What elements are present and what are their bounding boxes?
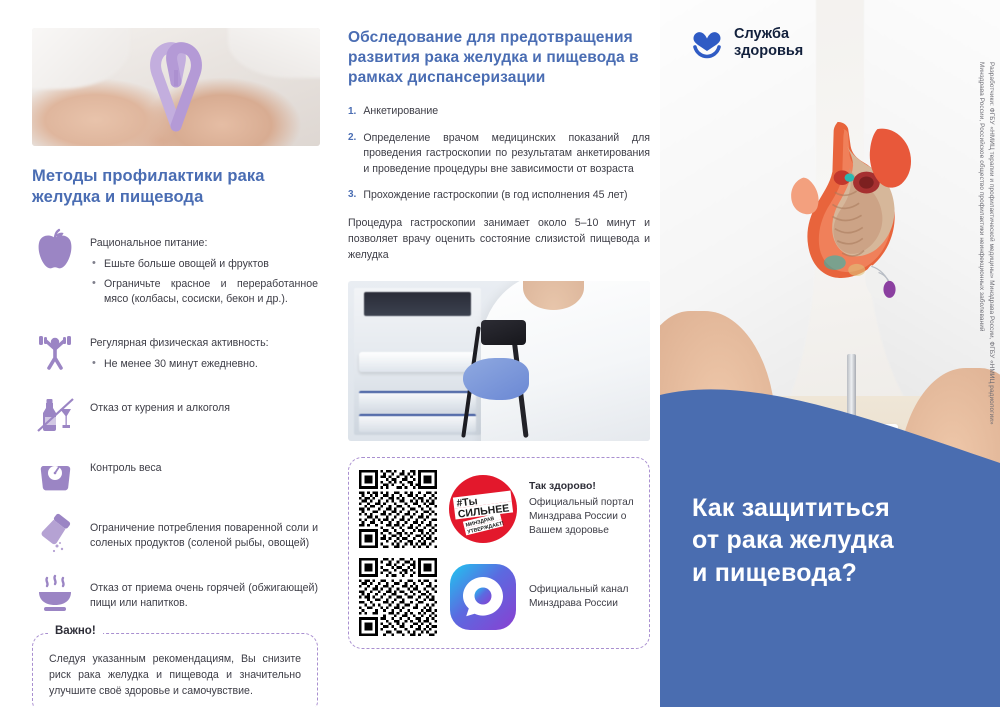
cover-title-line-1: Как защититься: [692, 492, 894, 525]
awareness-ribbon-icon: [144, 40, 208, 132]
endoscopy-machine: [354, 288, 481, 435]
brochure-page: Методы профилактики рака желудка и пищев…: [0, 0, 1000, 707]
cover-title: Как защититься от рака желудка и пищевод…: [692, 492, 894, 590]
step-number: 1.: [348, 104, 356, 119]
prevention-tips-list: Рациональное питание: Ешьте больше овоще…: [32, 226, 318, 617]
exercise-person-icon: [32, 326, 78, 372]
stomach-anatomical-model: [762, 57, 932, 425]
no-alcohol-smoking-icon: [32, 391, 78, 437]
screening-step: 1. Анкетирование: [348, 104, 650, 119]
hot-bowl-icon: [32, 571, 78, 617]
tip-body: Регулярная физическая активность: Не мен…: [90, 326, 318, 377]
tip-item: Регулярная физическая активность: Не мен…: [32, 326, 318, 377]
left-heading: Методы профилактики рака желудка и пищев…: [32, 166, 318, 208]
photo-gastroscope: [348, 281, 650, 441]
tip-bullets: Не менее 30 минут ежедневно.: [90, 357, 318, 372]
tip-bullets: Ешьте больше овощей и фруктов Ограничьте…: [90, 257, 318, 307]
screening-steps-list: 1. Анкетирование 2. Определение врачом м…: [348, 104, 650, 203]
qr-item: Официальный канал Минздрава России: [359, 558, 639, 636]
machine-screen: [364, 292, 471, 316]
tip-bullet: Ешьте больше овощей и фруктов: [90, 257, 318, 272]
gastroscopy-description: Процедура гастроскопии занимает около 5–…: [348, 216, 650, 263]
tip-body: Ограничение потребления поваренной соли …: [90, 511, 318, 551]
ty-silnee-badge: #Ты СИЛЬНЕЕ МИНЗДРАВ УТВЕРЖДАЕТ!: [447, 473, 519, 545]
qr-description: Официальный канал Минздрава России: [529, 583, 639, 611]
screening-step: 2. Определение врачом медицинских показа…: [348, 131, 650, 177]
tip-item: Контроль веса: [32, 451, 318, 497]
logo-line-2: здоровья: [734, 43, 803, 60]
logo-line-1: Служба: [734, 26, 803, 43]
column-screening: Обследование для предотвращения развития…: [340, 0, 660, 707]
tip-item: Рациональное питание: Ешьте больше овоще…: [32, 226, 318, 312]
logo-text: Служба здоровья: [734, 26, 803, 59]
scope-control-head: [481, 320, 526, 346]
tip-body: Отказ от курения и алкоголя: [90, 391, 318, 416]
middle-heading: Обследование для предотвращения развития…: [348, 28, 650, 88]
tip-body: Отказ от приема очень горячей (обжигающе…: [90, 571, 318, 611]
qr-code-takzdorovo[interactable]: [359, 470, 437, 548]
screening-step: 3. Прохождение гастроскопии (в год испол…: [348, 188, 650, 203]
important-callout: Следуя указанным рекомендациям, Вы снизи…: [32, 633, 318, 707]
important-box: Следуя указанным рекомендациям, Вы снизи…: [32, 633, 318, 707]
step-text: Анкетирование: [363, 104, 438, 119]
qr-caption: Официальный канал Минздрава России: [529, 583, 639, 611]
tip-item: Ограничение потребления поваренной соли …: [32, 511, 318, 557]
step-text: Прохождение гастроскопии (в год исполнен…: [363, 188, 627, 203]
step-number: 3.: [348, 188, 356, 203]
apple-icon: [32, 226, 78, 272]
max-messenger-logo: [447, 561, 519, 633]
important-text: Следуя указанным рекомендациям, Вы снизи…: [49, 652, 301, 700]
heart-smile-icon: [690, 27, 724, 59]
machine-tray: [359, 352, 476, 371]
machine-panel-lower: [359, 414, 476, 432]
tip-title: Рациональное питание:: [90, 236, 318, 251]
weight-scale-icon: [32, 451, 78, 497]
qr-code-minzdrav-channel[interactable]: [359, 558, 437, 636]
qr-title: Так здорово!: [529, 481, 639, 492]
qr-caption: Так здорово! Официальный портал Минздрав…: [529, 481, 639, 538]
qr-codes-box: #Ты СИЛЬНЕЕ МИНЗДРАВ УТВЕРЖДАЕТ! Так здо…: [348, 457, 650, 649]
column-prevention-methods: Методы профилактики рака желудка и пищев…: [0, 0, 340, 707]
photo-lavender-ribbon: [32, 28, 320, 146]
sluzhba-zdorovya-logo: Служба здоровья: [690, 26, 803, 59]
tip-title: Контроль веса: [90, 461, 318, 476]
machine-panel: [359, 391, 476, 410]
tip-title: Отказ от приема очень горячей (обжигающе…: [90, 581, 318, 611]
tip-title: Регулярная физическая активность:: [90, 336, 318, 351]
cover-title-line-3: и пищевода?: [692, 557, 894, 590]
developer-credits: Разработчики: ФГБУ «НМИЦ терапии и профи…: [976, 62, 996, 432]
tip-title: Отказ от курения и алкоголя: [90, 401, 318, 416]
step-text: Определение врачом медицинских показаний…: [363, 131, 650, 177]
tip-body: Рациональное питание: Ешьте больше овоще…: [90, 226, 318, 312]
important-title: Важно!: [48, 625, 103, 637]
tip-item: Отказ от приема очень горячей (обжигающе…: [32, 571, 318, 617]
step-number: 2.: [348, 131, 356, 177]
tip-bullet: Не менее 30 минут ежедневно.: [90, 357, 318, 372]
tip-body: Контроль веса: [90, 451, 318, 476]
tip-title: Ограничение потребления поваренной соли …: [90, 521, 318, 551]
column-cover: Служба здоровья Разработчики: ФГБУ «НМИЦ…: [660, 0, 1000, 707]
tip-bullet: Ограничьте красное и переработанное мясо…: [90, 277, 318, 307]
qr-item: #Ты СИЛЬНЕЕ МИНЗДРАВ УТВЕРЖДАЕТ! Так здо…: [359, 470, 639, 548]
cover-title-line-2: от рака желудка: [692, 524, 894, 557]
tip-item: Отказ от курения и алкоголя: [32, 391, 318, 437]
salt-shaker-icon: [32, 511, 78, 557]
blue-glove: [463, 358, 529, 400]
qr-description: Официальный портал Минздрава России о Ва…: [529, 496, 639, 538]
